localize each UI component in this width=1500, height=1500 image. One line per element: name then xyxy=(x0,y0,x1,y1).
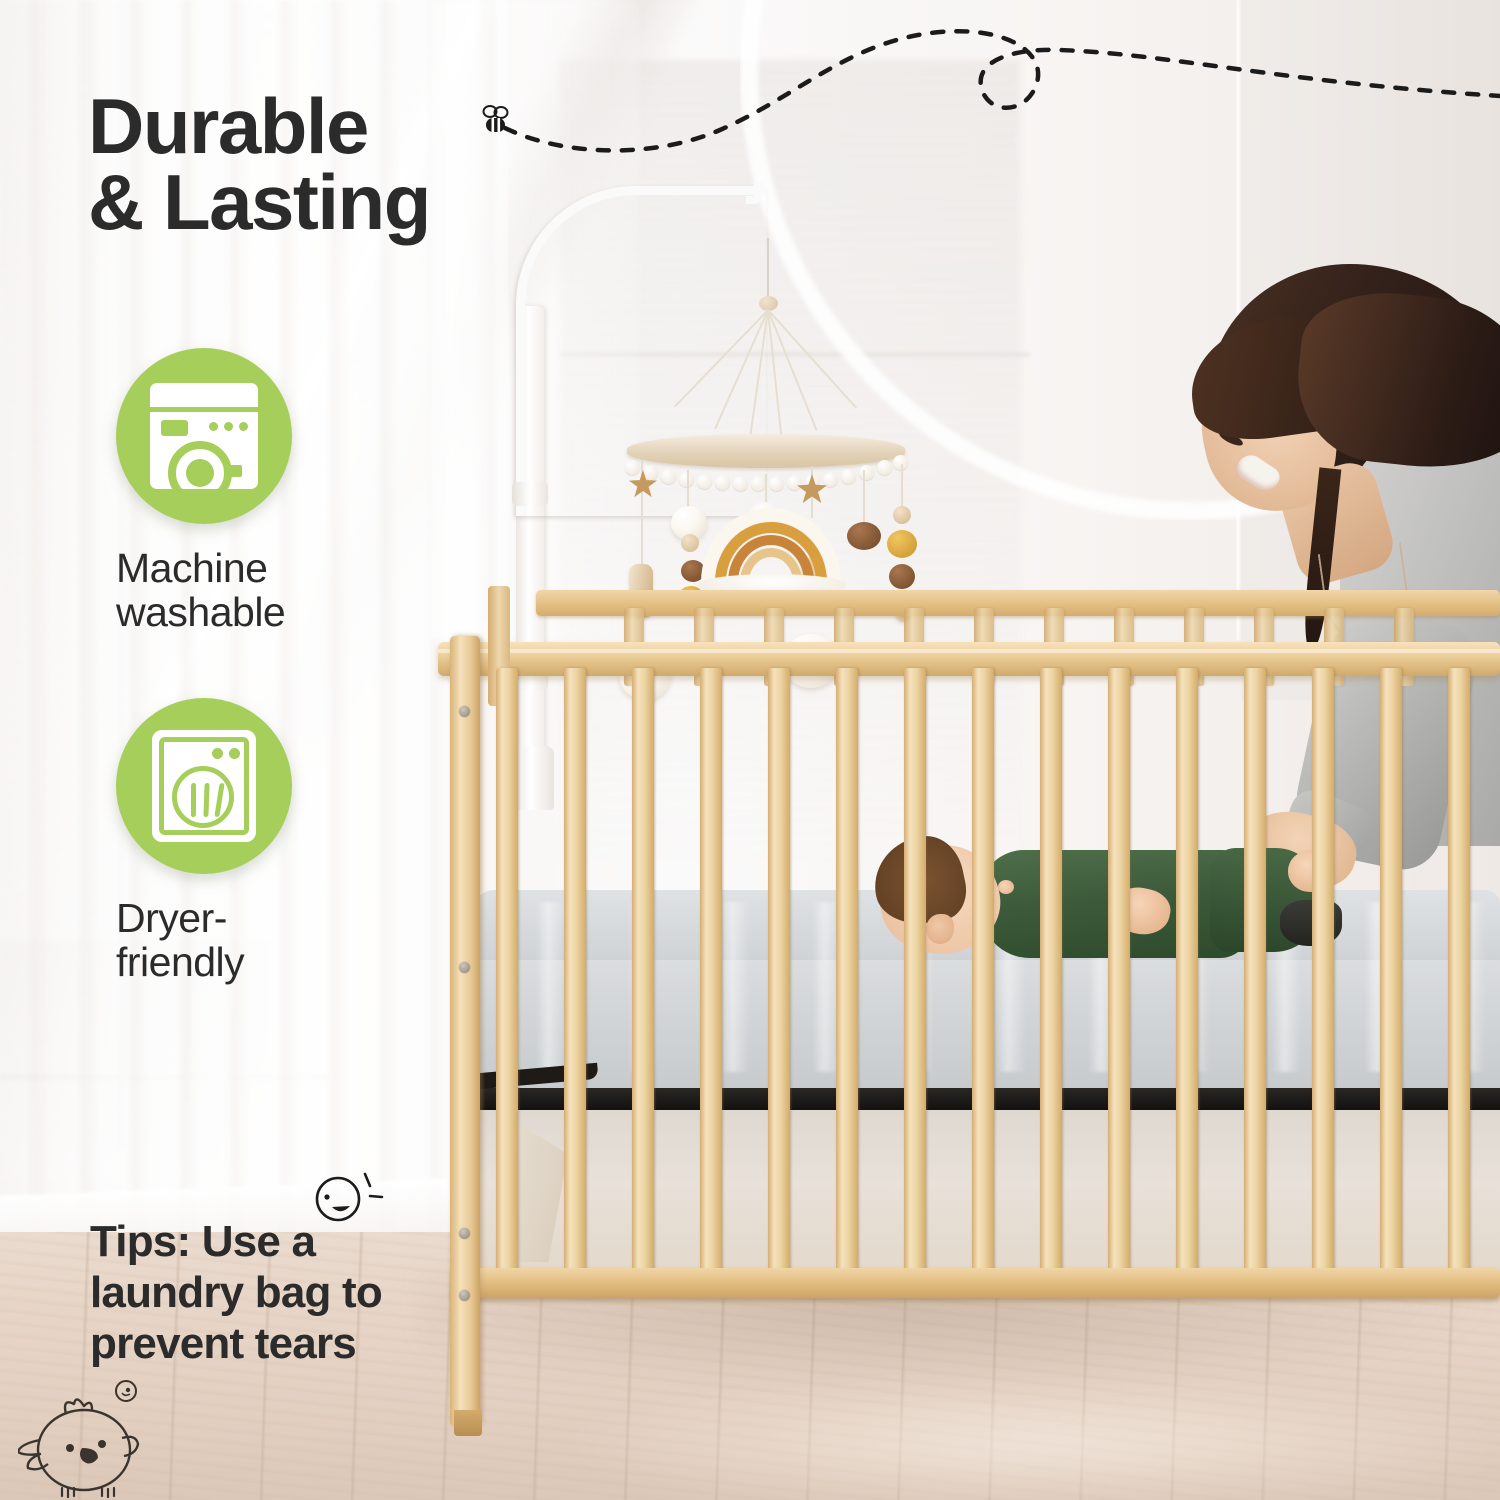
crib-back-top-rail xyxy=(536,590,1500,616)
page-title: Durable & Lasting xyxy=(88,88,430,241)
feature-label-machine-washable: Machine washable xyxy=(116,546,366,635)
feature-label-dryer-friendly: Dryer- friendly xyxy=(116,896,366,985)
machine-washable-badge xyxy=(116,348,292,524)
mobile-spoke xyxy=(714,310,768,429)
mobile-mustard-bead xyxy=(887,530,917,558)
tips-text: Tips: Use a laundry bag to prevent tears xyxy=(90,1216,490,1369)
feature-label-line-2: washable xyxy=(116,590,366,634)
tips-line-1: Tips: Use a xyxy=(90,1216,490,1267)
tips-line-3: prevent tears xyxy=(90,1318,490,1369)
dryer-friendly-badge xyxy=(116,698,292,874)
product-feature-image: Durable & Lasting Machine washable xyxy=(0,0,1500,1500)
mobile-crochet-rainbow xyxy=(701,496,841,582)
mobile-brown-bead xyxy=(889,564,915,589)
dryer-icon xyxy=(152,730,256,842)
headline-line-1: Durable xyxy=(88,88,430,164)
mobile-spoke xyxy=(767,309,857,408)
feature-machine-washable: Machine washable xyxy=(116,348,366,635)
bee-icon xyxy=(478,104,512,136)
mobile-spoke xyxy=(674,309,768,406)
washing-machine-icon xyxy=(150,383,258,489)
feature-label-line-2: friendly xyxy=(116,940,366,984)
crib-screw xyxy=(459,706,470,717)
headline-line-2: & Lasting xyxy=(88,164,430,240)
feature-dryer-friendly: Dryer- friendly xyxy=(116,698,366,985)
mobile-wood-bead xyxy=(681,534,699,552)
crib-front-slats-overlay xyxy=(438,668,1500,1272)
crib-screw xyxy=(459,962,470,973)
feature-label-line-1: Machine xyxy=(116,546,366,590)
crib-foot-overlay xyxy=(454,1410,482,1436)
mobile-cord xyxy=(767,238,769,300)
mobile-string xyxy=(641,496,643,572)
tips-line-2: laundry bag to xyxy=(90,1267,490,1318)
mobile-wood-bead xyxy=(893,506,911,524)
mobile-arm-joint xyxy=(512,482,548,506)
feature-label-line-1: Dryer- xyxy=(116,896,366,940)
crib-mobile xyxy=(615,238,945,598)
mobile-arm-tip xyxy=(746,182,762,204)
bird-chick-doodle xyxy=(18,1378,190,1500)
mobile-brown-bead xyxy=(847,522,881,550)
crib-bottom-rail-front xyxy=(452,1268,1500,1298)
smiley-face-doodle xyxy=(312,1166,390,1228)
